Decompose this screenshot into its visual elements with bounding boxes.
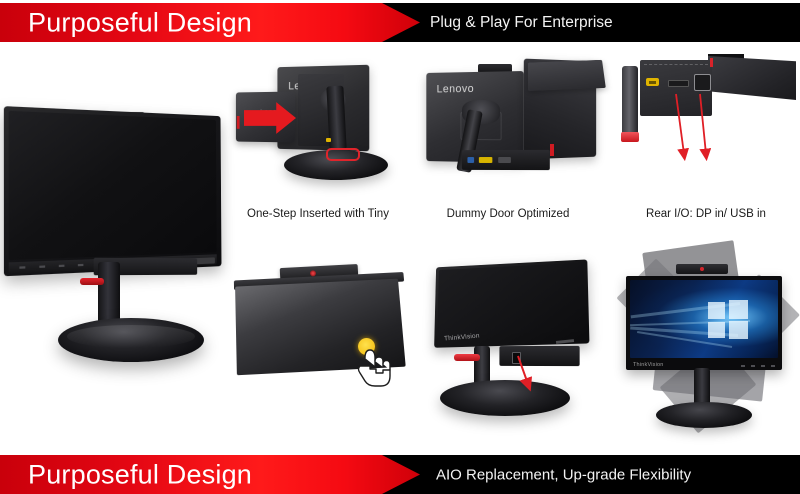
feature-cell-front-io: ThinkVision Front I/O: 1x USB3.0 — [418, 244, 598, 422]
hero-stand-base — [58, 318, 204, 362]
hand-cursor-icon — [352, 342, 396, 390]
windows-logo-icon — [708, 300, 748, 340]
front-io-illustration: ThinkVision — [418, 244, 598, 422]
hero-osd-buttons — [19, 263, 83, 268]
feature-caption-dummy-door: Dummy Door Optimized — [418, 208, 598, 222]
dummy-door-panel — [528, 60, 606, 91]
header-subtitle: Plug & Play For Enterprise — [430, 14, 613, 32]
port-usb-icon — [498, 157, 511, 163]
feature-caption-rear-io: Rear I/O: DP in/ USB in — [614, 208, 798, 222]
osd-buttons — [741, 365, 775, 367]
slide-root: Purposeful Design Plug & Play For Enterp… — [0, 0, 800, 494]
red-cable-handle-icon — [326, 148, 360, 161]
red-down-arrow-icon — [418, 244, 598, 422]
red-accent-tab — [550, 144, 554, 156]
tiny-pc-red-stripe — [237, 116, 240, 129]
windows-wallpaper — [630, 280, 778, 358]
dummy-door-illustration: Lenovo — [418, 52, 598, 202]
webcam-lens-icon — [700, 267, 704, 271]
header-title: Purposeful Design — [28, 7, 252, 38]
full-function-stand-illustration: ThinkVision — [614, 240, 798, 422]
port-display-icon — [467, 157, 474, 163]
footer-banner: Purposeful Design AIO Replacement, Up-gr… — [0, 455, 800, 494]
feature-cell-full-function-stand: ThinkVision Full Function Stand — [614, 240, 798, 422]
port-dc-icon — [479, 157, 492, 163]
hero-display-panel — [4, 106, 222, 276]
footer-title: Purposeful Design — [28, 459, 252, 490]
thinkvision-logo: ThinkVision — [633, 362, 664, 368]
feature-cell-dummy-door: Lenovo Dummy Door Optimized — [418, 52, 598, 202]
hero-monitor-image — [6, 110, 236, 390]
hero-screen — [9, 111, 217, 260]
lenovo-logo: Lenovo — [437, 83, 474, 95]
rear-io-illustration — [614, 52, 798, 202]
yellow-dc-port-icon — [326, 138, 331, 142]
hero-stand-neck — [98, 262, 120, 324]
feature-cell-camera-touch: Camera / Touch Screen(Optional) — [232, 250, 404, 400]
webcam-module — [676, 264, 728, 274]
feature-cell-rear-io: Rear I/O: DP in/ USB in — [614, 52, 798, 202]
camera-touch-illustration — [232, 250, 404, 400]
red-callout-arrows-icon — [614, 52, 798, 202]
footer-subtitle: AIO Replacement, Up-grade Flexibility — [436, 466, 691, 483]
header-banner: Purposeful Design Plug & Play For Enterp… — [0, 3, 800, 42]
stand-base — [656, 402, 752, 428]
monitor-front: ThinkVision — [626, 276, 782, 370]
feature-caption-one-step-inserted: One-Step Inserted with Tiny — [232, 208, 404, 222]
one-step-inserted-illustration: Lenovo Lenovo — [232, 52, 404, 202]
hero-red-release-tab — [80, 278, 104, 285]
rear-io-bar — [462, 150, 550, 170]
feature-grid: Lenovo Lenovo One-Step Inserted with Tin… — [232, 52, 798, 450]
feature-cell-one-step-inserted: Lenovo Lenovo One-Step Inserted with Tin… — [232, 52, 404, 202]
